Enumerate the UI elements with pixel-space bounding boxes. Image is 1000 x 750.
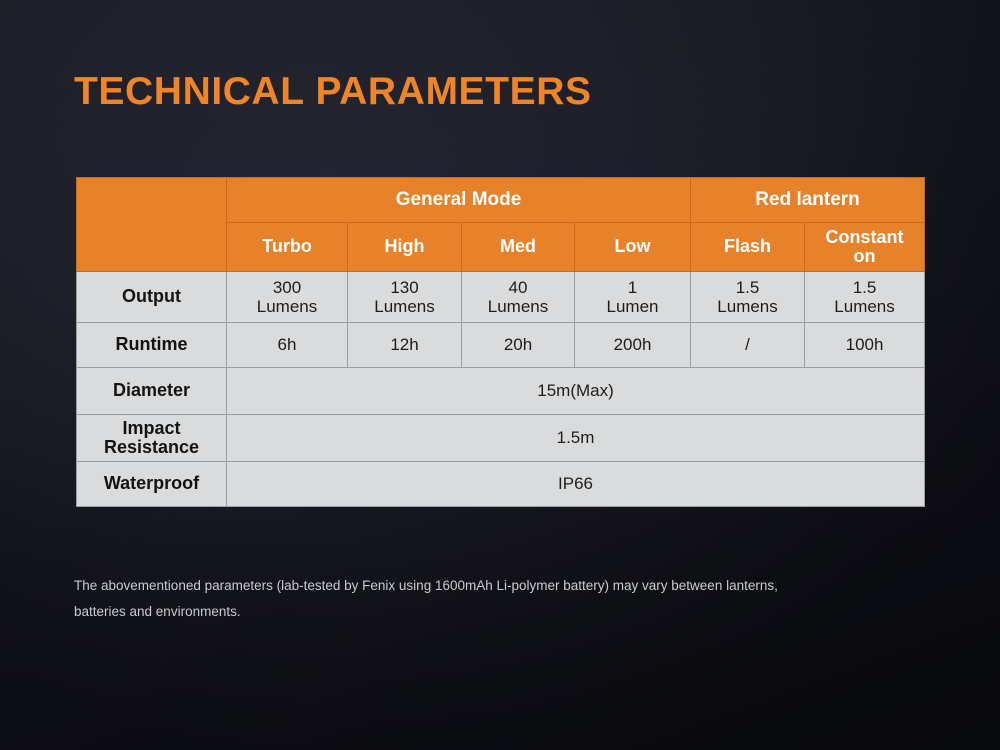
cell-output-low-unit: Lumen [575, 297, 690, 316]
footnote: The abovementioned parameters (lab-teste… [74, 573, 864, 626]
header-mode-constant-on: Constant on [805, 223, 925, 272]
cell-output-flash-value: 1.5 [691, 278, 804, 297]
cell-runtime-constant-on: 100h [805, 323, 925, 368]
table-row: Impact Resistance 1.5m [77, 415, 925, 462]
header-group-red-lantern: Red lantern [691, 178, 925, 223]
cell-diameter-value: 15m(Max) [227, 368, 925, 415]
header-mode-turbo: Turbo [227, 223, 348, 272]
table-row: Waterproof IP66 [77, 462, 925, 507]
header-mode-constant-on-line1: Constant [805, 228, 924, 247]
technical-parameters-table: General Mode Red lantern Turbo High Med … [76, 177, 924, 507]
cell-output-turbo: 300 Lumens [227, 272, 348, 323]
header-mode-flash: Flash [691, 223, 805, 272]
header-corner-cell [77, 178, 227, 272]
row-label-impact-resistance-line2: Resistance [77, 438, 226, 457]
cell-runtime-med: 20h [462, 323, 575, 368]
row-label-impact-resistance-line1: Impact [77, 419, 226, 438]
cell-output-low: 1 Lumen [575, 272, 691, 323]
cell-impact-resistance-value: 1.5m [227, 415, 925, 462]
table-row: Output 300 Lumens 130 Lumens 40 Lumens [77, 272, 925, 323]
row-label-impact-resistance: Impact Resistance [77, 415, 227, 462]
header-mode-constant-on-line2: on [805, 247, 924, 266]
row-label-diameter: Diameter [77, 368, 227, 415]
cell-output-turbo-value: 300 [227, 278, 347, 297]
cell-output-high-value: 130 [348, 278, 461, 297]
page-title: TECHNICAL PARAMETERS [74, 70, 592, 114]
header-mode-high: High [348, 223, 462, 272]
cell-output-constant-on-unit: Lumens [805, 297, 924, 316]
cell-runtime-high: 12h [348, 323, 462, 368]
cell-output-med-unit: Lumens [462, 297, 574, 316]
header-mode-med: Med [462, 223, 575, 272]
cell-runtime-low: 200h [575, 323, 691, 368]
table-row: Runtime 6h 12h 20h 200h / 100h [77, 323, 925, 368]
cell-output-high-unit: Lumens [348, 297, 461, 316]
spec-table: General Mode Red lantern Turbo High Med … [76, 177, 925, 507]
row-label-runtime: Runtime [77, 323, 227, 368]
cell-output-low-value: 1 [575, 278, 690, 297]
row-label-waterproof: Waterproof [77, 462, 227, 507]
cell-output-flash: 1.5 Lumens [691, 272, 805, 323]
footnote-line-1: The abovementioned parameters (lab-teste… [74, 573, 864, 599]
cell-runtime-flash: / [691, 323, 805, 368]
slide-canvas: TECHNICAL PARAMETERS General Mode Red la… [0, 0, 1000, 750]
cell-output-med: 40 Lumens [462, 272, 575, 323]
cell-output-flash-unit: Lumens [691, 297, 804, 316]
row-label-output: Output [77, 272, 227, 323]
cell-output-med-value: 40 [462, 278, 574, 297]
cell-output-constant-on-value: 1.5 [805, 278, 924, 297]
table-row: Diameter 15m(Max) [77, 368, 925, 415]
cell-output-constant-on: 1.5 Lumens [805, 272, 925, 323]
header-group-general-mode: General Mode [227, 178, 691, 223]
table-header-group-row: General Mode Red lantern [77, 178, 925, 223]
footnote-line-2: batteries and environments. [74, 599, 864, 625]
cell-output-turbo-unit: Lumens [227, 297, 347, 316]
header-mode-low: Low [575, 223, 691, 272]
cell-output-high: 130 Lumens [348, 272, 462, 323]
cell-waterproof-value: IP66 [227, 462, 925, 507]
cell-runtime-turbo: 6h [227, 323, 348, 368]
